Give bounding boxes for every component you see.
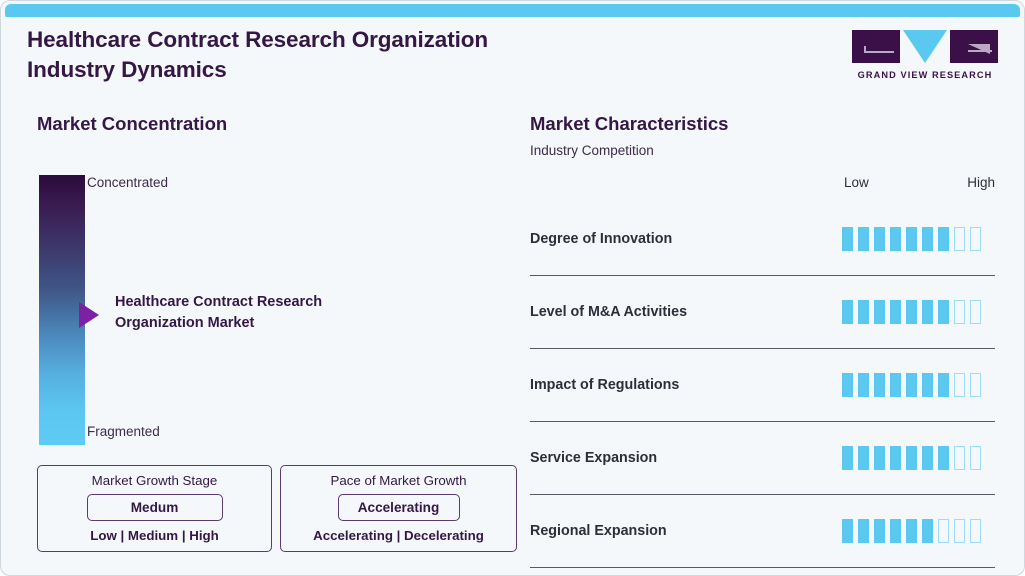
characteristic-meter xyxy=(842,519,995,543)
meter-segment-filled xyxy=(922,227,933,251)
meter-segment-filled xyxy=(874,300,885,324)
market-growth-stage-title: Market Growth Stage xyxy=(48,473,261,488)
characteristic-meter xyxy=(842,227,995,251)
characteristic-label: Service Expansion xyxy=(530,450,842,466)
meter-segment-empty xyxy=(970,373,981,397)
meter-segment-filled xyxy=(874,227,885,251)
pace-of-market-growth-box: Pace of Market Growth Accelerating Accel… xyxy=(280,465,517,552)
meter-segment-filled xyxy=(842,227,853,251)
meter-segment-empty xyxy=(954,227,965,251)
characteristics-rows: Degree of InnovationLevel of M&A Activit… xyxy=(530,203,995,568)
concentration-top-label: Concentrated xyxy=(87,175,168,190)
meter-segment-empty xyxy=(970,227,981,251)
meter-segment-filled xyxy=(938,227,949,251)
meter-segment-filled xyxy=(874,446,885,470)
meter-segment-empty xyxy=(970,446,981,470)
characteristic-row: Level of M&A Activities xyxy=(530,276,995,349)
market-growth-stage-scale: Low | Medium | High xyxy=(48,528,261,543)
characteristic-label: Impact of Regulations xyxy=(530,377,842,393)
meter-segment-filled xyxy=(842,300,853,324)
meter-segment-filled xyxy=(906,300,917,324)
market-concentration-title: Market Concentration xyxy=(37,113,227,135)
scale-high-label: High xyxy=(967,175,995,190)
meter-scale-header: Low High xyxy=(842,175,995,193)
meter-segment-filled xyxy=(906,446,917,470)
info-boxes: Market Growth Stage Medum Low | Medium |… xyxy=(37,465,517,552)
meter-segment-filled xyxy=(890,300,901,324)
meter-segment-filled xyxy=(874,373,885,397)
characteristic-row: Impact of Regulations xyxy=(530,349,995,422)
meter-segment-filled xyxy=(890,519,901,543)
meter-segment-filled xyxy=(938,446,949,470)
meter-segment-filled xyxy=(842,519,853,543)
meter-segment-filled xyxy=(906,519,917,543)
meter-segment-filled xyxy=(858,519,869,543)
meter-segment-empty xyxy=(938,519,949,543)
meter-segment-filled xyxy=(906,373,917,397)
characteristic-label: Degree of Innovation xyxy=(530,231,842,247)
meter-segment-empty xyxy=(954,519,965,543)
meter-segment-filled xyxy=(922,519,933,543)
marker-label-line-1: Healthcare Contract Research xyxy=(115,292,415,313)
logo-square-g-icon xyxy=(852,30,900,63)
marker-label: Healthcare Contract Research Organizatio… xyxy=(115,292,415,334)
meter-segment-filled xyxy=(842,373,853,397)
concentration-bottom-label: Fragmented xyxy=(87,424,160,439)
page-title: Healthcare Contract Research Organizatio… xyxy=(27,25,667,85)
characteristic-label: Regional Expansion xyxy=(530,523,842,539)
meter-segment-filled xyxy=(938,373,949,397)
page-title-line-2: Industry Dynamics xyxy=(27,55,667,85)
meter-segment-filled xyxy=(906,227,917,251)
logo-square-r-icon xyxy=(950,30,998,63)
scale-low-label: Low xyxy=(844,175,869,190)
characteristic-meter xyxy=(842,446,995,470)
logo-wordmark: GRAND VIEW RESEARCH xyxy=(852,70,998,80)
characteristic-row: Service Expansion xyxy=(530,422,995,495)
pace-of-market-growth-title: Pace of Market Growth xyxy=(291,473,506,488)
meter-segment-empty xyxy=(954,446,965,470)
meter-segment-filled xyxy=(890,373,901,397)
characteristic-row: Regional Expansion xyxy=(530,495,995,568)
grand-view-research-logo: GRAND VIEW RESEARCH xyxy=(852,30,998,88)
meter-segment-filled xyxy=(858,373,869,397)
infographic-card: Healthcare Contract Research Organizatio… xyxy=(0,0,1025,576)
meter-segment-filled xyxy=(858,227,869,251)
page-title-line-1: Healthcare Contract Research Organizatio… xyxy=(27,25,667,55)
meter-segment-empty xyxy=(954,373,965,397)
characteristic-meter xyxy=(842,373,995,397)
meter-segment-filled xyxy=(922,446,933,470)
top-accent-bar xyxy=(5,4,1020,17)
meter-segment-filled xyxy=(938,300,949,324)
meter-segment-filled xyxy=(890,227,901,251)
logo-triangle-v-icon xyxy=(903,30,947,63)
meter-segment-filled xyxy=(922,300,933,324)
meter-segment-filled xyxy=(922,373,933,397)
meter-segment-empty xyxy=(970,300,981,324)
logo-r-cut-svg xyxy=(950,30,998,63)
pace-of-market-growth-scale: Accelerating | Decelerating xyxy=(291,528,506,543)
meter-segment-empty xyxy=(954,300,965,324)
logo-marks xyxy=(852,30,998,65)
meter-segment-filled xyxy=(842,446,853,470)
marker-arrow-icon xyxy=(79,302,99,328)
characteristic-label: Level of M&A Activities xyxy=(530,304,842,320)
market-growth-stage-value: Medum xyxy=(87,494,223,521)
meter-segment-filled xyxy=(858,446,869,470)
marker-label-line-2: Organization Market xyxy=(115,313,415,334)
pace-of-market-growth-value: Accelerating xyxy=(338,494,460,521)
characteristic-meter xyxy=(842,300,995,324)
market-characteristics-subtitle: Industry Competition xyxy=(530,143,654,158)
market-growth-stage-box: Market Growth Stage Medum Low | Medium |… xyxy=(37,465,272,552)
meter-segment-empty xyxy=(970,519,981,543)
meter-segment-filled xyxy=(890,446,901,470)
meter-segment-filled xyxy=(858,300,869,324)
market-characteristics-title: Market Characteristics xyxy=(530,113,728,135)
header: Healthcare Contract Research Organizatio… xyxy=(27,25,998,91)
meter-segment-filled xyxy=(874,519,885,543)
characteristic-row: Degree of Innovation xyxy=(530,203,995,276)
